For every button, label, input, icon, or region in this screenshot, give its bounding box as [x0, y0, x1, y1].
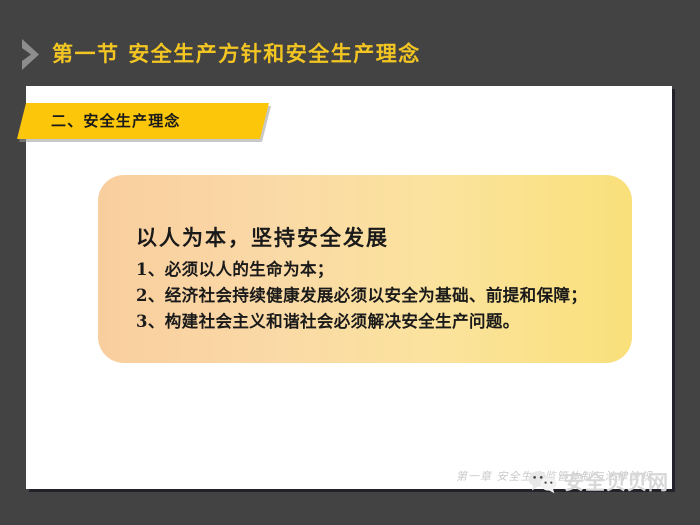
- slide-root: 第一节 安全生产方针和安全生产理念 二、安全生产理念 以人为本，坚持安全发展 1…: [0, 0, 700, 525]
- content-card: 以人为本，坚持安全发展 1、必须以人的生命为本； 2、经济社会持续健康发展必须以…: [98, 175, 632, 363]
- card-line-1: 1、必须以人的生命为本；: [136, 257, 618, 283]
- card-heading: 以人为本，坚持安全发展: [136, 223, 618, 253]
- card-line-2: 2、经济社会持续健康发展必须以安全为基础、前提和保障；: [136, 283, 618, 309]
- page-title: 第一节 安全生产方针和安全生产理念: [52, 39, 421, 70]
- chevron-right-icon: [20, 38, 46, 71]
- watermark: 安全贝贝网: [528, 470, 669, 494]
- wechat-icon: [528, 470, 558, 494]
- slide-page: 二、安全生产理念 以人为本，坚持安全发展 1、必须以人的生命为本； 2、经济社会…: [26, 86, 672, 489]
- header-bar: 第一节 安全生产方针和安全生产理念: [0, 0, 700, 86]
- section-banner-label: 二、安全生产理念: [51, 111, 181, 131]
- section-banner: 二、安全生产理念: [17, 103, 277, 141]
- card-text-block: 以人为本，坚持安全发展 1、必须以人的生命为本； 2、经济社会持续健康发展必须以…: [136, 223, 618, 335]
- card-line-3: 3、构建社会主义和谐社会必须解决安全生产问题。: [136, 309, 618, 335]
- watermark-label: 安全贝贝网: [564, 470, 669, 494]
